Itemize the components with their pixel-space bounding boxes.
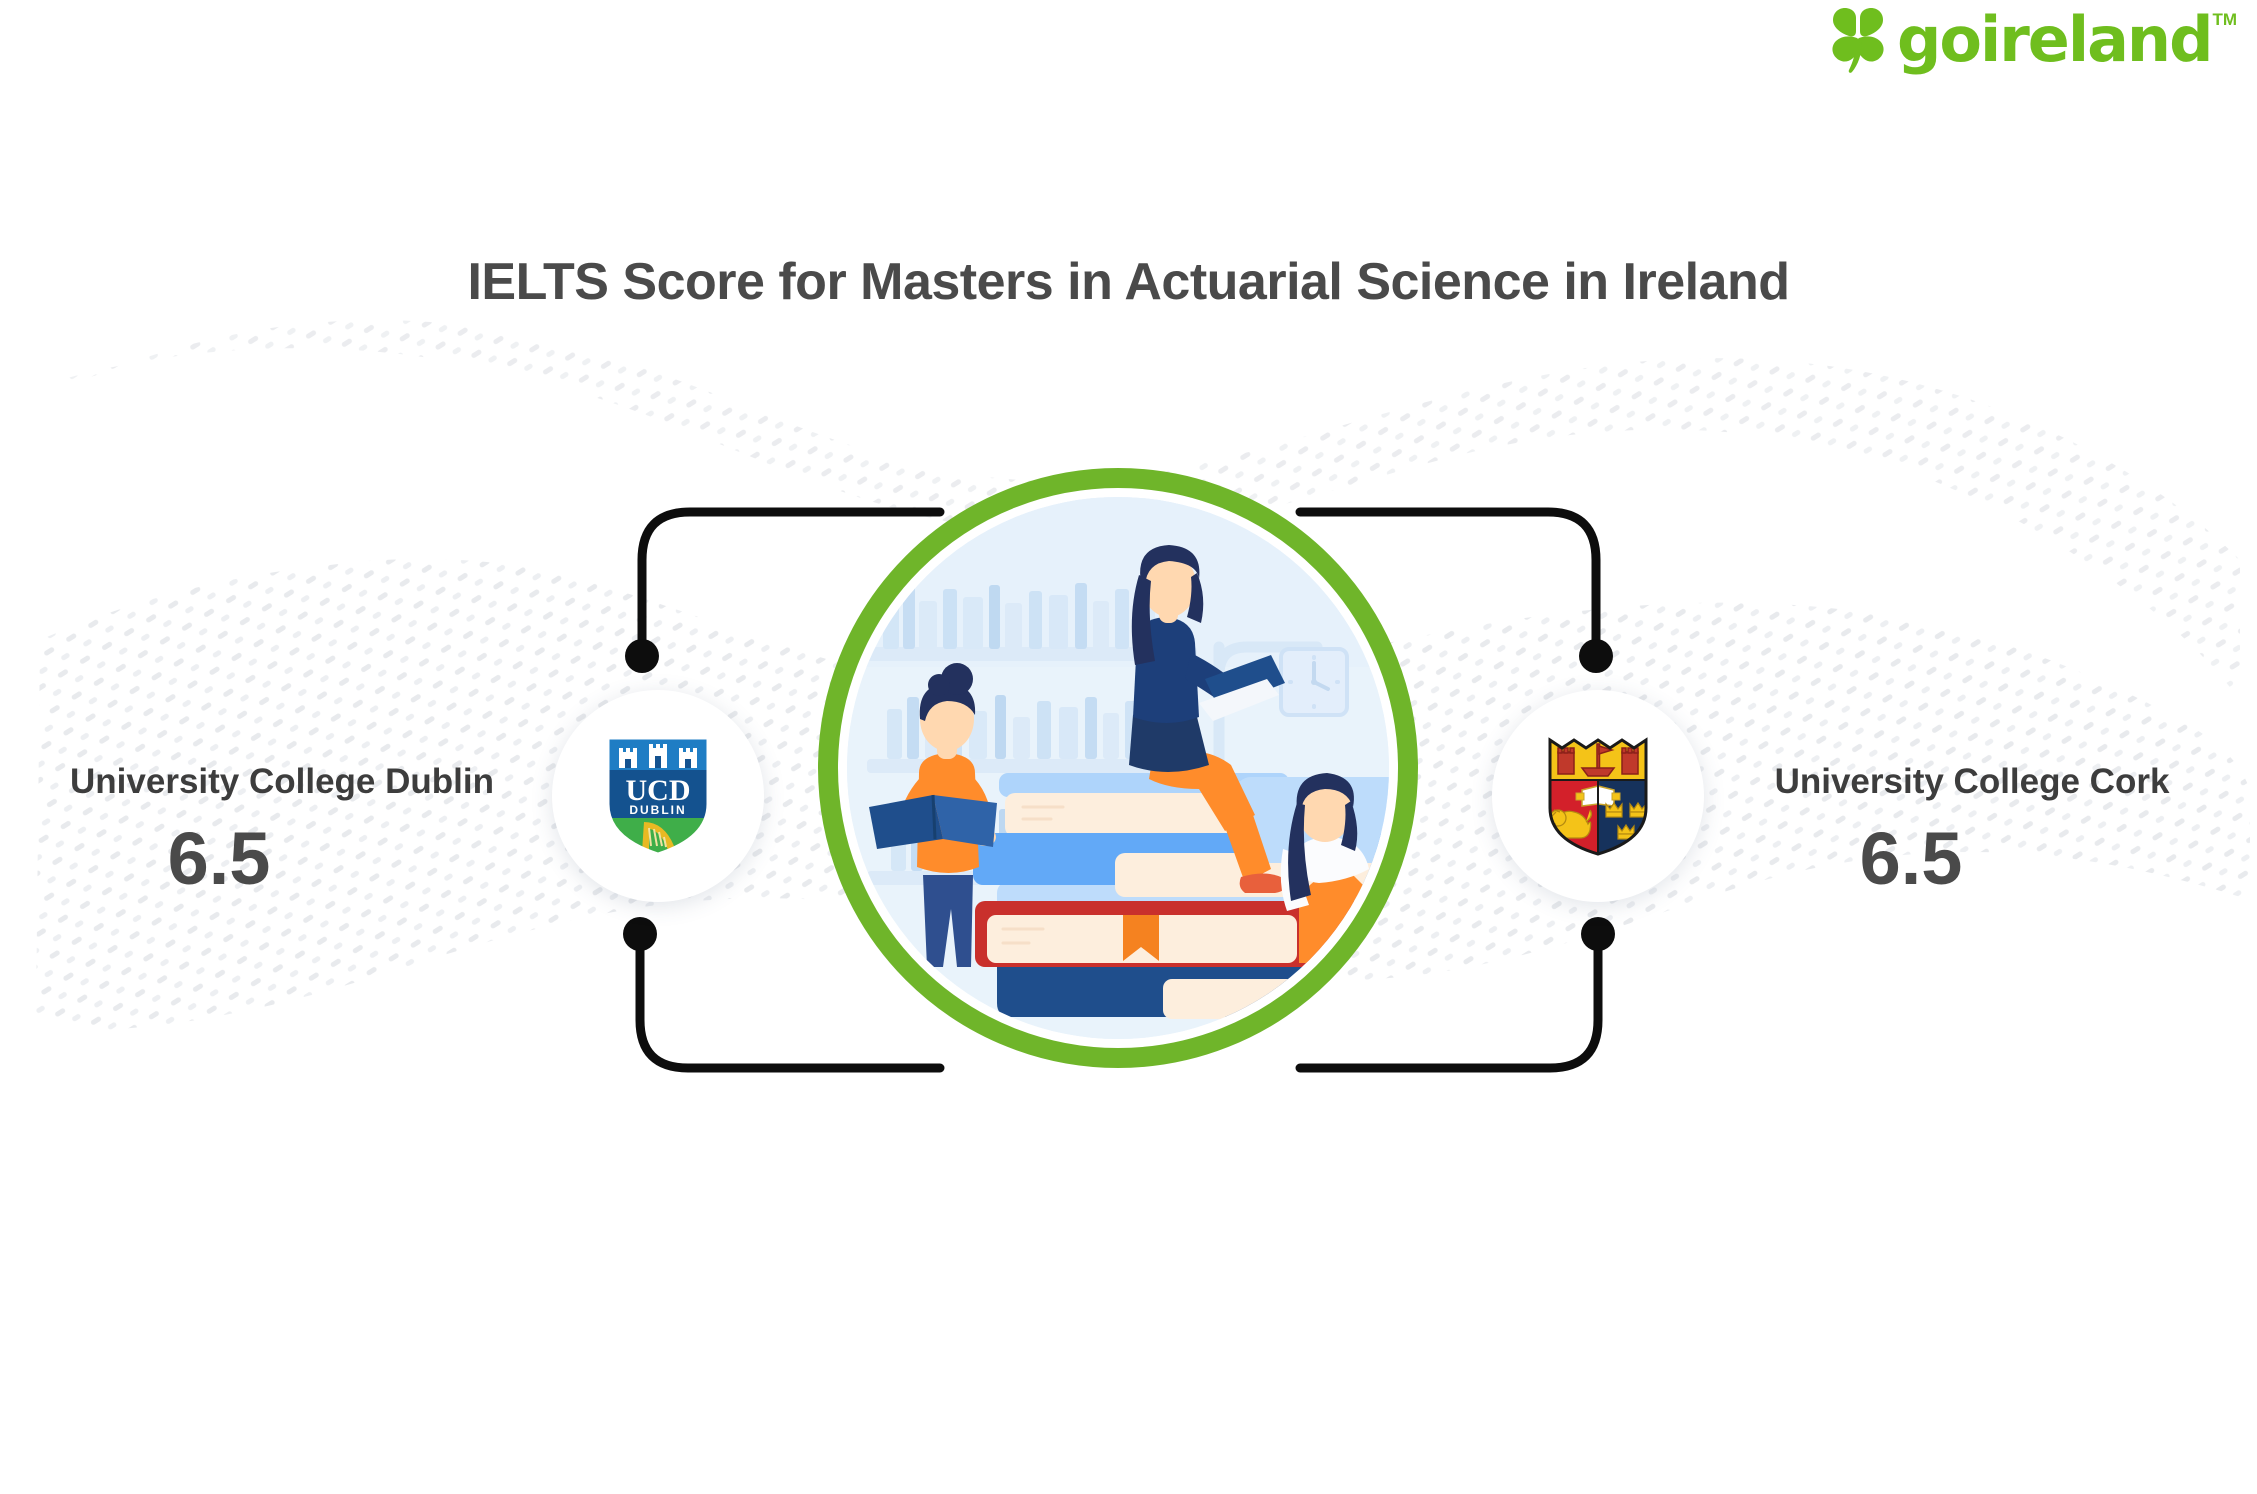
university-score-right: 6.5 — [1590, 816, 2232, 902]
page-title: IELTS Score for Masters in Actuarial Sci… — [0, 252, 2257, 312]
trademark-symbol: TM — [2212, 10, 2237, 30]
connector-dot-top-left — [625, 639, 659, 673]
shamrock-icon — [1823, 8, 1893, 74]
university-info-right: University College Cork 6.5 — [1712, 762, 2232, 902]
connector-dot-top-right — [1579, 639, 1613, 673]
university-name-right: University College Cork — [1712, 762, 2232, 802]
svg-text:DUBLIN: DUBLIN — [629, 803, 686, 817]
brand-logo[interactable]: goireland TM — [1823, 8, 2237, 86]
connector-dot-bottom-left — [623, 917, 657, 951]
university-logo-badge-ucd[interactable]: UCD DUBLIN — [552, 690, 764, 902]
ucd-crest-icon: UCD DUBLIN — [604, 734, 712, 858]
illustration-inner — [847, 497, 1389, 1039]
connector-dot-bottom-right — [1581, 917, 1615, 951]
infographic-canvas: goireland TM IELTS Score for Masters in … — [0, 0, 2257, 1494]
students-reading-books-illustration — [847, 497, 1389, 1039]
wall-clock — [1281, 649, 1347, 715]
university-name-left: University College Dublin — [22, 762, 542, 802]
university-info-left: University College Dublin 6.5 — [22, 762, 542, 902]
central-illustration — [818, 468, 1418, 1068]
logo-wordmark: goireland — [1897, 8, 2211, 72]
university-score-left: 6.5 — [0, 816, 542, 902]
